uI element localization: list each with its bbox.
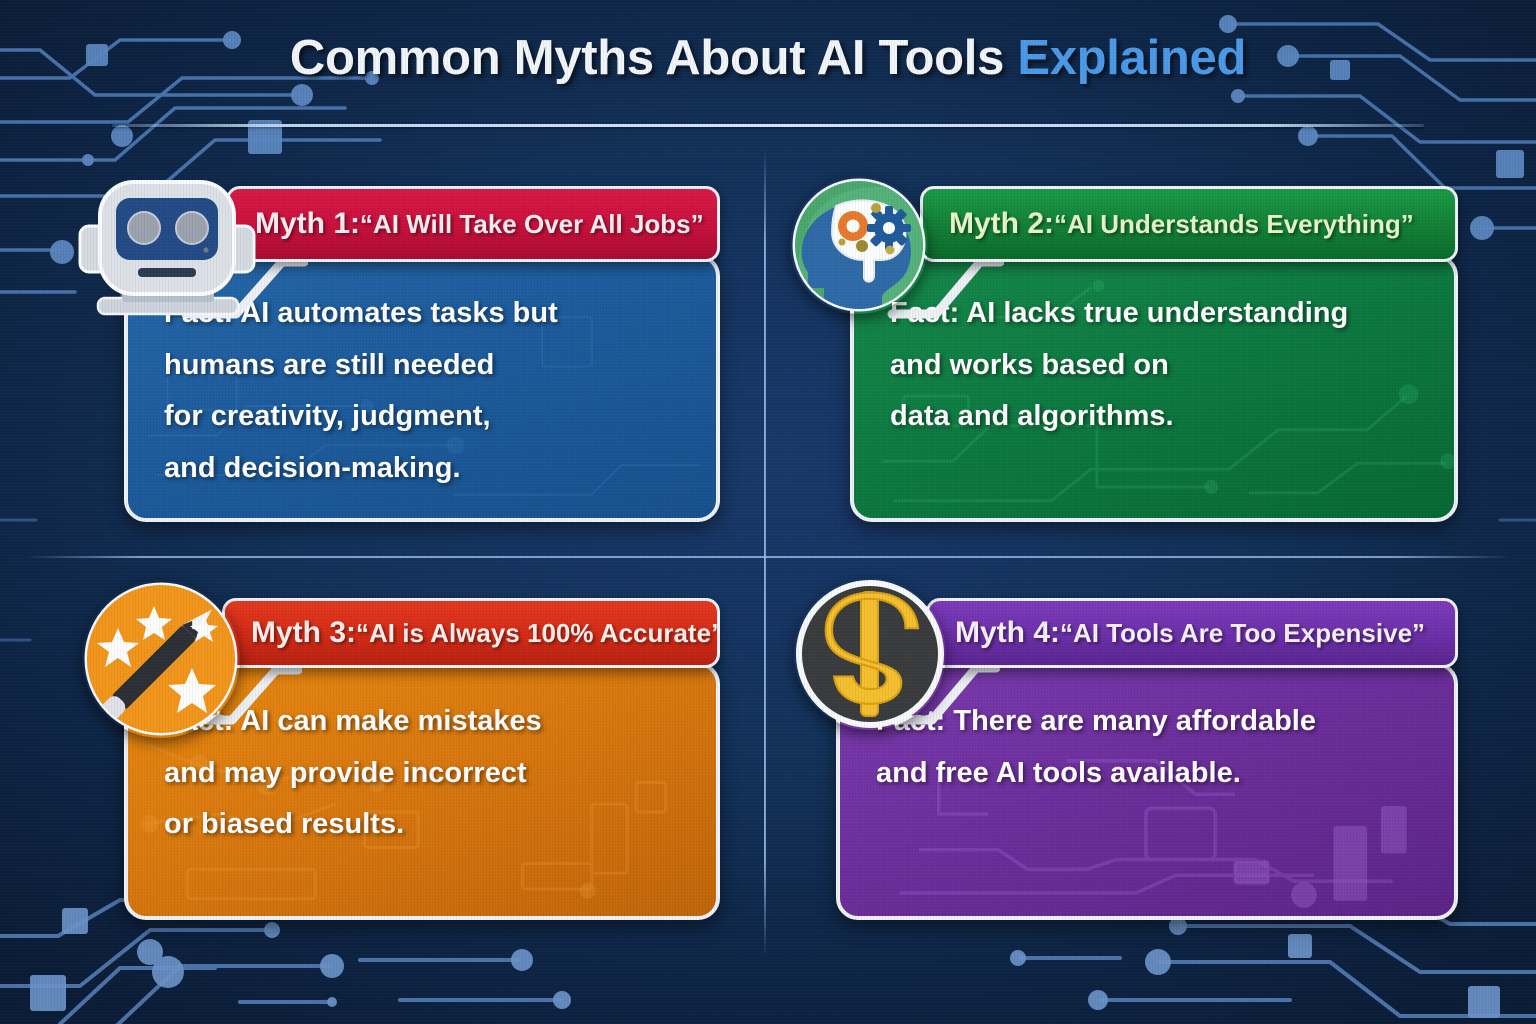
myth-1-fact-line-4: and decision-making. [164,452,461,484]
myth-4-number: Myth 4: [955,616,1060,649]
myth-3-quote: “AI is Always 100% Accurate” [356,618,720,648]
myth-2-fact-line-1: AI lacks true understanding [966,297,1348,329]
magic-wand-stars-icon [82,580,240,738]
title-underline [112,124,1424,127]
dollar-coin-icon [794,578,946,730]
myth-2-header: Myth 2:“AI Understands Everything” [920,186,1458,262]
myth-4-fact-line-1: There are many affordable [953,705,1316,737]
myth-3-fact-line-3: or biased results. [164,808,404,840]
myth-2-header-text: Myth 2:“AI Understands Everything” [949,207,1414,241]
myth-1-quote: “AI Will Take Over All Jobs” [360,209,704,239]
brain-head-icon [790,176,928,314]
horizontal-divider [24,556,1512,558]
myth-1-header-text: Myth 1:“AI Will Take Over All Jobs” [255,207,704,241]
myth-2-quote: “AI Understands Everything” [1054,209,1414,239]
page-title: Common Myths About AI Tools Explained [0,30,1536,86]
myth-1-fact-line-3: for creativity, judgment, [164,400,491,432]
myth-3-header-text: Myth 3:“AI is Always 100% Accurate” [251,616,720,650]
myth-4-fact-line-2: and free AI tools available. [876,757,1241,789]
vertical-divider [764,148,766,958]
myth-3-header: Myth 3:“AI is Always 100% Accurate” [222,598,720,668]
myth-1-fact-line-2: humans are still needed [164,349,494,381]
myth-2-fact-line-2: and works based on [890,349,1169,381]
page-title-main: Common Myths About AI Tools [290,31,1004,85]
myth-3-number: Myth 3: [251,616,356,649]
myth-4-header-text: Myth 4:“AI Tools Are Too Expensive” [955,616,1425,650]
page-title-highlight: Explained [1017,31,1246,85]
myth-1-header: Myth 1:“AI Will Take Over All Jobs” [226,186,720,262]
myth-2-fact-line-3: data and algorithms. [890,400,1174,432]
myth-1-number: Myth 1: [255,207,360,240]
robot-icon [76,172,258,324]
myth-4-header: Myth 4:“AI Tools Are Too Expensive” [926,598,1458,668]
myth-4-quote: “AI Tools Are Too Expensive” [1060,618,1425,648]
infographic-canvas: Common Myths About AI Tools Explained [0,0,1536,1024]
myth-2-number: Myth 2: [949,207,1054,240]
myth-3-fact-line-2: and may provide incorrect [164,757,527,789]
